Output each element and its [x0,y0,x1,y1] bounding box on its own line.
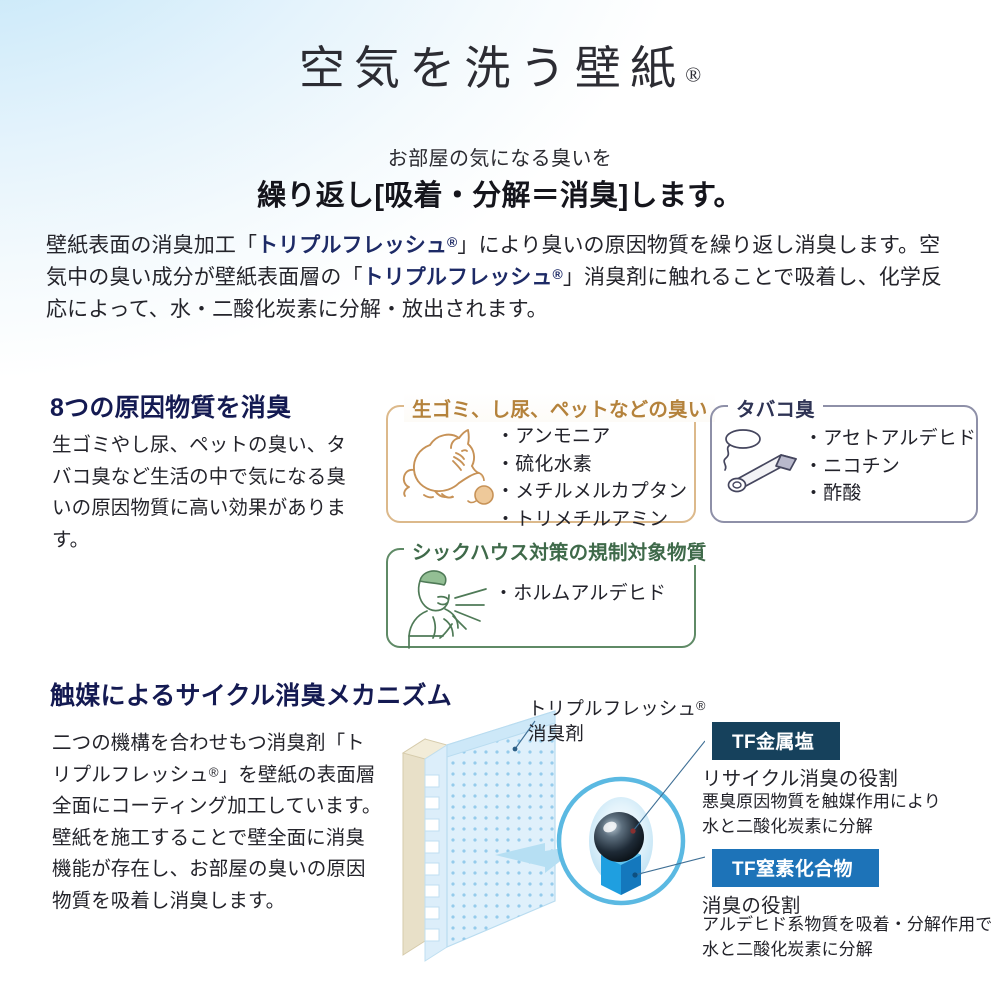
diagram-callout-triplefresh: トリプルフレッシュ®消臭剤 [528,697,706,747]
list-item: ・ニコチン [804,453,976,481]
cat-ball-icon [475,486,493,504]
list-item: ・アンモニア [496,423,687,451]
desc-line: 水と二酸化炭素に分解 [702,815,941,840]
odor-box-waste: 生ゴミ、し尿、ペットなどの臭い [386,405,696,523]
desc-line: 水と二酸化炭素に分解 [702,938,992,963]
badge-tf-nitrogen-compound: TF窒素化合物 [712,849,879,887]
page-title: 空気を洗う壁紙® [0,44,1000,95]
section-1-body: 生ゴミやし尿、ペットの臭い、タバコ臭など生活の中で気になる臭いの原因物質に高い効… [52,430,352,556]
page-title-text: 空気を洗う壁紙 [299,43,685,94]
subtitle-line-2: 繰り返し[吸着・分解＝消臭]します。 [0,172,1000,214]
brand-name-2: トリプルフレッシュ® [363,266,563,289]
odor-box-tobacco: タバコ臭 ・アセトアルデヒド ・ニコチン ・酢酸 [710,405,978,523]
coughing-man-icon [400,564,498,650]
section-2-body: 二つの機構を合わせもつ消臭剤「トリプルフレッシュ®」を壁紙の表面層全面にコーティ… [52,728,382,917]
magnifier-circle [559,779,683,903]
registered-mark-icon: ® [685,62,701,86]
odor-box-tobacco-items: ・アセトアルデヒド ・ニコチン ・酢酸 [804,425,976,508]
badge-tf-metal-salt: TF金属塩 [712,722,840,760]
lead-text-part-1: 壁紙表面の消臭加工「 [46,234,257,257]
wallpaper-foam-layer [425,745,447,961]
odor-box-waste-items: ・アンモニア ・硫化水素 ・メチルメルカプタン ・トリメチルアミン [496,423,687,533]
registered-mark-icon: ® [553,266,563,282]
registered-mark-icon: ® [696,699,705,713]
odor-box-sick-house-legend: シックハウス対策の規制対象物質 [404,536,714,565]
odor-box-waste-legend: 生ゴミ、し尿、ペットなどの臭い [404,393,715,422]
registered-mark-icon: ® [209,764,219,779]
lead-paragraph: 壁紙表面の消臭加工「トリプルフレッシュ®」により臭いの原因物質を繰り返し消臭しま… [46,230,956,326]
odor-box-tobacco-legend: タバコ臭 [728,393,823,422]
list-item: ・トリメチルアミン [496,506,687,534]
subtitle-line-1: お部屋の気になる臭いを [0,142,1000,171]
brand-name-1-text: トリプルフレッシュ [257,234,447,257]
list-item: ・硫化水素 [496,451,687,479]
list-item: ・酢酸 [804,480,976,508]
cat-icon [396,425,500,509]
desc-line: 悪臭原因物質を触媒作用により [702,790,941,815]
list-item: ・ホルムアルデヒド [494,580,666,608]
label-tf-metal-salt-title: リサイクル消臭の役割 [702,762,898,791]
section-2-heading: 触媒によるサイクル消臭メカニズム [50,676,452,712]
tf-metal-salt-sphere [594,812,644,862]
brand-name-1: トリプルフレッシュ® [257,234,457,257]
desc-line: アルデヒド系物質を吸着・分解作用で [702,913,992,938]
label-tf-metal-salt-desc: 悪臭原因物質を触媒作用により 水と二酸化炭素に分解 [702,790,941,839]
cigarette-icon [718,425,806,501]
brand-name-2-text: トリプルフレッシュ [363,266,553,289]
label-tf-nitrogen-desc: アルデヒド系物質を吸着・分解作用で 水と二酸化炭素に分解 [702,913,992,962]
list-item: ・アセトアルデヒド [804,425,976,453]
diagram-callout-line-2: 消臭剤 [528,723,584,744]
section-1-heading: 8つの原因物質を消臭 [50,388,291,424]
registered-mark-icon: ® [447,234,457,250]
odor-box-sick-house: シックハウス対策の規制対象物質 ・ホルムアルデヒド [386,548,696,648]
list-item: ・メチルメルカプタン [496,478,687,506]
diagram-callout-line-1: トリプルフレッシュ [528,698,696,719]
odor-box-sick-house-items: ・ホルムアルデヒド [494,580,666,608]
infographic-page: 空気を洗う壁紙® お部屋の気になる臭いを 繰り返し[吸着・分解＝消臭]します。 … [0,0,1000,1000]
